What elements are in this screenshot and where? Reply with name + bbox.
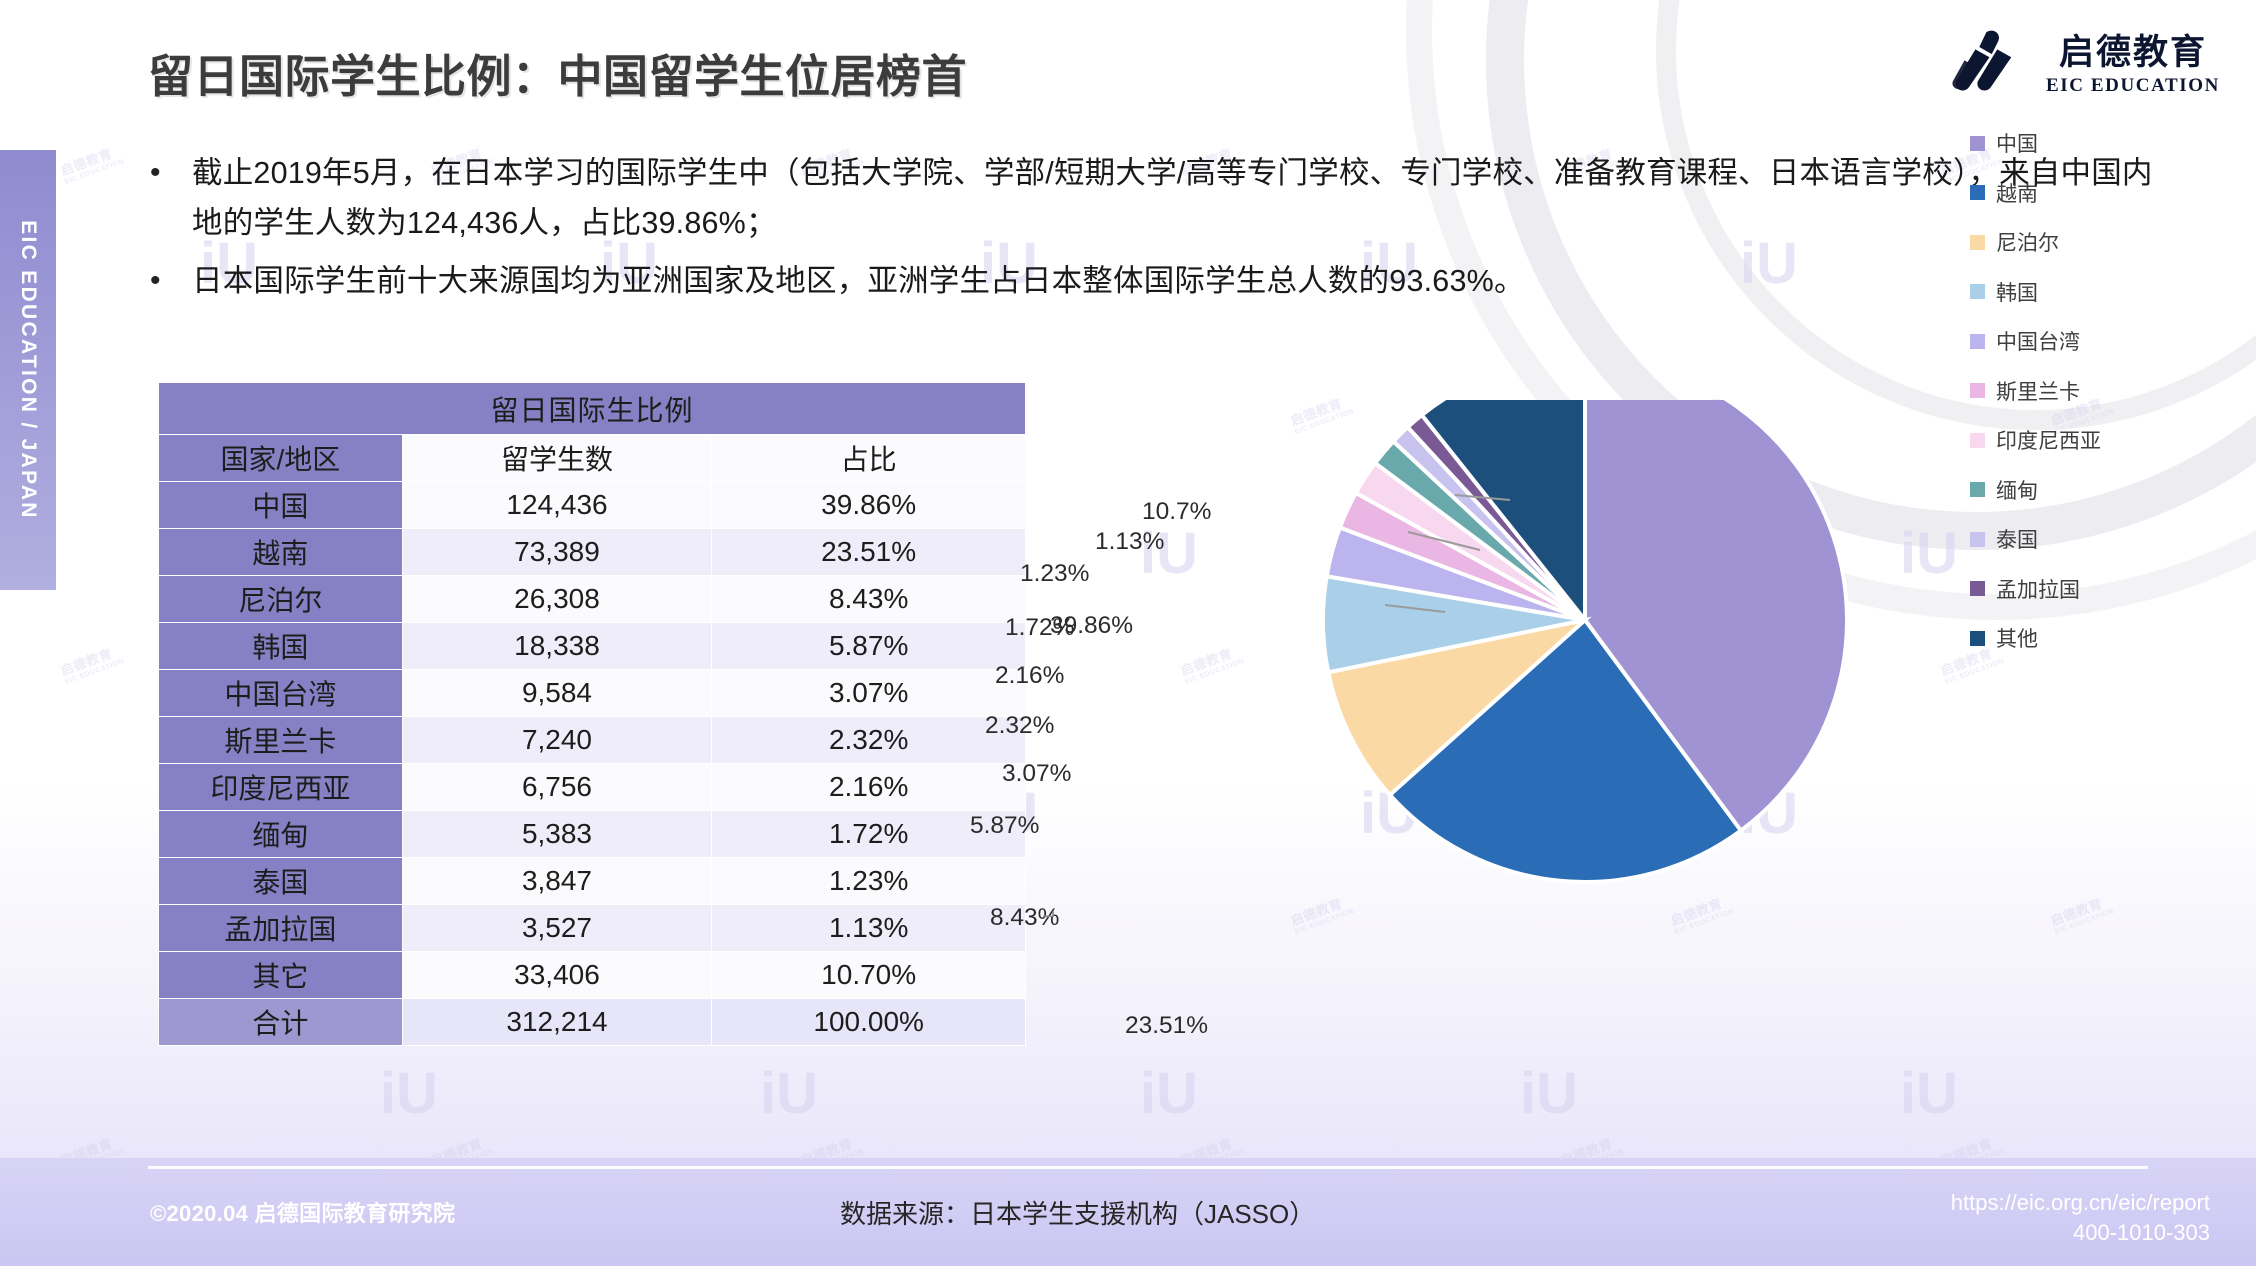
pie-data-label: 1.72% — [1005, 614, 1074, 642]
legend-item[interactable]: 其他 — [1970, 623, 2220, 653]
legend-label: 韩国 — [1996, 277, 2038, 307]
table-row: 尼泊尔26,3088.43% — [159, 576, 1026, 623]
legend-item[interactable]: 斯里兰卡 — [1970, 376, 2220, 406]
cell-total-count: 312,214 — [402, 999, 712, 1046]
leader-bracket-icon: ⌐ — [1042, 903, 1055, 929]
cell-count: 33,406 — [402, 952, 712, 999]
legend-item[interactable]: 印度尼西亚 — [1970, 425, 2220, 455]
bullet-text: 日本国际学生前十大来源国均为亚洲国家及地区，亚洲学生占日本整体国际学生总人数的9… — [192, 256, 1525, 306]
bullet-marker-icon: • — [150, 148, 192, 248]
legend-label: 尼泊尔 — [1996, 227, 2059, 257]
legend-item[interactable]: 缅甸 — [1970, 475, 2220, 505]
cell-country: 印度尼西亚 — [159, 764, 403, 811]
legend-item[interactable]: 泰国 — [1970, 524, 2220, 554]
table-row: 缅甸5,3831.72% — [159, 811, 1026, 858]
legend-label: 越南 — [1996, 178, 2038, 208]
page-title: 留日国际学生比例：中国留学生位居榜首 — [148, 40, 967, 105]
cell-country: 尼泊尔 — [159, 576, 403, 623]
cell-total-share: 100.00% — [712, 999, 1026, 1046]
table-row: 其它33,40610.70% — [159, 952, 1026, 999]
legend-label: 其他 — [1996, 623, 2038, 653]
legend-swatch-icon — [1970, 136, 1985, 151]
logo-text-cn: 启德教育 — [2059, 35, 2207, 70]
legend-label: 中国 — [1996, 128, 2038, 158]
legend-swatch-icon — [1970, 581, 1985, 596]
chart-legend: 中国越南尼泊尔韩国中国台湾斯里兰卡印度尼西亚缅甸泰国孟加拉国其他 — [1970, 128, 2220, 653]
table-row: 中国124,43639.86% — [159, 482, 1026, 529]
table-row: 泰国3,8471.23% — [159, 858, 1026, 905]
legend-item[interactable]: 尼泊尔 — [1970, 227, 2220, 257]
cell-count: 6,756 — [402, 764, 712, 811]
footer-data-source: 数据来源：日本学生支援机构（JASSO） — [840, 1194, 1315, 1231]
bullet-text: 截止2019年5月，在日本学习的国际学生中（包括大学院、学部/短期大学/高等专门… — [192, 148, 2170, 248]
side-rail-label-bold: EIC — [17, 220, 40, 262]
footer-url[interactable]: https://eic.org.cn/eic/report — [1951, 1188, 2210, 1218]
cell-count: 73,389 — [402, 529, 712, 576]
legend-swatch-icon — [1970, 235, 1985, 250]
table-title: 留日国际生比例 — [159, 383, 1026, 435]
legend-item[interactable]: 孟加拉国 — [1970, 574, 2220, 604]
table-row: 孟加拉国3,5271.13% — [159, 905, 1026, 952]
cell-share: 1.13% — [712, 905, 1026, 952]
cell-share: 5.87% — [712, 623, 1026, 670]
bullet-marker-icon: • — [150, 256, 192, 306]
cell-count: 26,308 — [402, 576, 712, 623]
cell-total-label: 合计 — [159, 999, 403, 1046]
pie-data-label: 2.16% — [995, 662, 1064, 690]
table-header-row: 国家/地区 留学生数 占比 — [159, 435, 1026, 482]
cell-count: 18,338 — [402, 623, 712, 670]
footer-copyright: ©2020.04 启德国际教育研究院 — [150, 1196, 455, 1228]
legend-swatch-icon — [1970, 482, 1985, 497]
table-row: 中国台湾9,5843.07% — [159, 670, 1026, 717]
side-rail-label-rest: EDUCATION / JAPAN — [17, 262, 40, 520]
table-body: 中国124,43639.86%越南73,38923.51%尼泊尔26,3088.… — [159, 482, 1026, 1046]
pie-data-label: 1.23% — [1020, 560, 1089, 588]
cell-country: 孟加拉国 — [159, 905, 403, 952]
cell-count: 3,847 — [402, 858, 712, 905]
cell-count: 124,436 — [402, 482, 712, 529]
cell-country: 斯里兰卡 — [159, 717, 403, 764]
footer-phone: 400-1010-303 — [1951, 1218, 2210, 1248]
cell-country: 泰国 — [159, 858, 403, 905]
cell-share: 2.16% — [712, 764, 1026, 811]
legend-swatch-icon — [1970, 631, 1985, 646]
cell-country: 越南 — [159, 529, 403, 576]
cell-share: 10.70% — [712, 952, 1026, 999]
legend-label: 斯里兰卡 — [1996, 376, 2080, 406]
footer: ©2020.04 启德国际教育研究院 数据来源：日本学生支援机构（JASSO） … — [0, 1158, 2256, 1266]
legend-item[interactable]: 越南 — [1970, 178, 2220, 208]
legend-swatch-icon — [1970, 185, 1985, 200]
legend-swatch-icon — [1970, 284, 1985, 299]
cell-share: 1.23% — [712, 858, 1026, 905]
legend-item[interactable]: 中国 — [1970, 128, 2220, 158]
table-row: 越南73,38923.51% — [159, 529, 1026, 576]
side-rail: EIC EDUCATION / JAPAN — [0, 150, 56, 590]
cell-country: 韩国 — [159, 623, 403, 670]
pie-data-label: 5.87% — [970, 812, 1039, 840]
column-header-count: 留学生数 — [402, 435, 712, 482]
data-table: 留日国际生比例 国家/地区 留学生数 占比 中国124,43639.86%越南7… — [158, 382, 1026, 1046]
cell-country: 缅甸 — [159, 811, 403, 858]
legend-swatch-icon — [1970, 383, 1985, 398]
table-row: 韩国18,3385.87% — [159, 623, 1026, 670]
cell-count: 3,527 — [402, 905, 712, 952]
legend-label: 泰国 — [1996, 524, 2038, 554]
footer-contact: https://eic.org.cn/eic/report 400-1010-3… — [1951, 1188, 2210, 1247]
column-header-country: 国家/地区 — [159, 435, 403, 482]
side-rail-label: EIC EDUCATION / JAPAN — [16, 220, 40, 520]
pie-data-label: 1.13% — [1095, 528, 1164, 556]
legend-swatch-icon — [1970, 433, 1985, 448]
legend-swatch-icon — [1970, 532, 1985, 547]
bullet-list: • 截止2019年5月，在日本学习的国际学生中（包括大学院、学部/短期大学/高等… — [150, 148, 2170, 314]
list-item: • 日本国际学生前十大来源国均为亚洲国家及地区，亚洲学生占日本整体国际学生总人数… — [150, 256, 2170, 306]
cell-share: 8.43% — [712, 576, 1026, 623]
cell-country: 中国台湾 — [159, 670, 403, 717]
data-table-wrapper: 留日国际生比例 国家/地区 留学生数 占比 中国124,43639.86%越南7… — [158, 382, 1026, 1046]
pie-data-label: 2.32% — [985, 712, 1054, 740]
cell-count: 5,383 — [402, 811, 712, 858]
pie-data-label: 3.07% — [1002, 760, 1071, 788]
table-row: 斯里兰卡7,2402.32% — [159, 717, 1026, 764]
cell-share: 39.86% — [712, 482, 1026, 529]
table-total-row: 合计312,214100.00% — [159, 999, 1026, 1046]
cell-share: 2.32% — [712, 717, 1026, 764]
legend-label: 孟加拉国 — [1996, 574, 2080, 604]
cell-count: 9,584 — [402, 670, 712, 717]
cell-country: 中国 — [159, 482, 403, 529]
table-title-row: 留日国际生比例 — [159, 383, 1026, 435]
logo-text-en: EIC EDUCATION — [2046, 76, 2220, 95]
legend-label: 印度尼西亚 — [1996, 425, 2101, 455]
legend-label: 缅甸 — [1996, 475, 2038, 505]
table-row: 印度尼西亚6,7562.16% — [159, 764, 1026, 811]
cell-share: 3.07% — [712, 670, 1026, 717]
legend-label: 中国台湾 — [1996, 326, 2080, 356]
pie-data-label: 23.51% — [1125, 1012, 1208, 1040]
column-header-share: 占比 — [712, 435, 1026, 482]
pie-data-label: 10.7% — [1142, 498, 1211, 526]
cell-country: 其它 — [159, 952, 403, 999]
legend-item[interactable]: 韩国 — [1970, 277, 2220, 307]
cell-share: 23.51% — [712, 529, 1026, 576]
cell-count: 7,240 — [402, 717, 712, 764]
footer-divider — [148, 1166, 2148, 1169]
eic-logo-icon — [1952, 26, 2030, 104]
brand-logo: 启德教育 EIC EDUCATION — [1952, 26, 2220, 104]
legend-swatch-icon — [1970, 334, 1985, 349]
list-item: • 截止2019年5月，在日本学习的国际学生中（包括大学院、学部/短期大学/高等… — [150, 148, 2170, 248]
legend-item[interactable]: 中国台湾 — [1970, 326, 2220, 356]
